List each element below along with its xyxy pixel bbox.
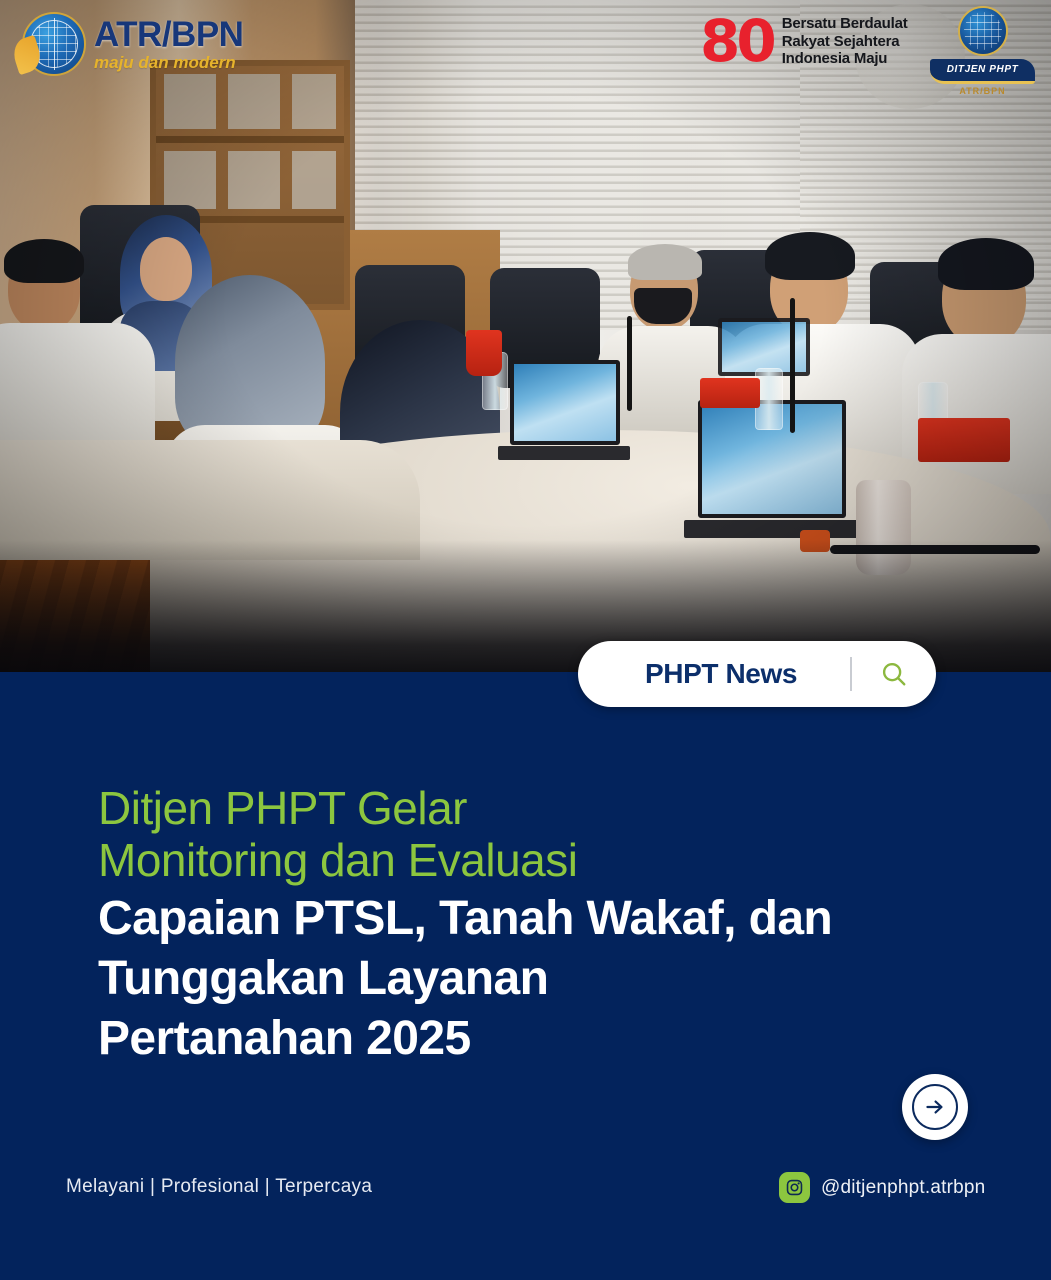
headline-white-line-2: Tunggakan Layanan (98, 951, 958, 1007)
headline-white-line-3: Pertanahan 2025 (98, 1011, 958, 1067)
brand-tagline: maju dan modern (94, 54, 243, 71)
ditjen-phpt-ribbon: DITJEN PHPT (930, 59, 1035, 84)
atr-bpn-logo: ATR/BPN maju dan modern (22, 12, 243, 76)
phpt-news-pill[interactable]: PHPT News (578, 641, 936, 707)
instagram-link[interactable]: @ditjenphpt.atrbpn (779, 1172, 985, 1203)
phpt-news-label: PHPT News (578, 658, 850, 690)
next-slide-button[interactable] (902, 1074, 968, 1140)
next-button-ring (912, 1084, 958, 1130)
search-button[interactable] (852, 659, 936, 689)
search-icon (879, 659, 909, 689)
ditjen-phpt-globe-icon (958, 6, 1008, 56)
instagram-icon (785, 1178, 804, 1197)
social-media-post-card: ATR/BPN maju dan modern 80 Bersatu Berda… (0, 0, 1051, 1280)
ditjen-phpt-sub: ATR/BPN (930, 86, 1035, 96)
headline-green-line-2: Monitoring dan Evaluasi (98, 834, 958, 886)
footer-tagline: Melayani | Profesional | Terpercaya (66, 1176, 372, 1198)
atr-bpn-globe-emblem-icon (22, 12, 86, 76)
instagram-badge (779, 1172, 810, 1203)
meeting-photo (0, 0, 1051, 690)
headline-white-line-1: Capaian PTSL, Tanah Wakaf, dan (98, 891, 958, 947)
anniversary-number: 80 (700, 14, 773, 69)
anniversary-80-logo: 80 Bersatu Berdaulat Rakyat Sejahtera In… (700, 14, 908, 69)
anniversary-line-2: Rakyat Sejahtera (782, 33, 908, 51)
instagram-handle: @ditjenphpt.atrbpn (821, 1177, 985, 1199)
brand-name: ATR/BPN (94, 17, 243, 52)
anniversary-line-3: Indonesia Maju (782, 50, 908, 68)
headline-block: Ditjen PHPT Gelar Monitoring dan Evaluas… (98, 782, 958, 1067)
ditjen-phpt-logo: DITJEN PHPT ATR/BPN (930, 6, 1035, 96)
headline-green-line-1: Ditjen PHPT Gelar (98, 782, 958, 834)
arrow-right-icon (922, 1094, 948, 1120)
anniversary-line-1: Bersatu Berdaulat (782, 15, 908, 33)
